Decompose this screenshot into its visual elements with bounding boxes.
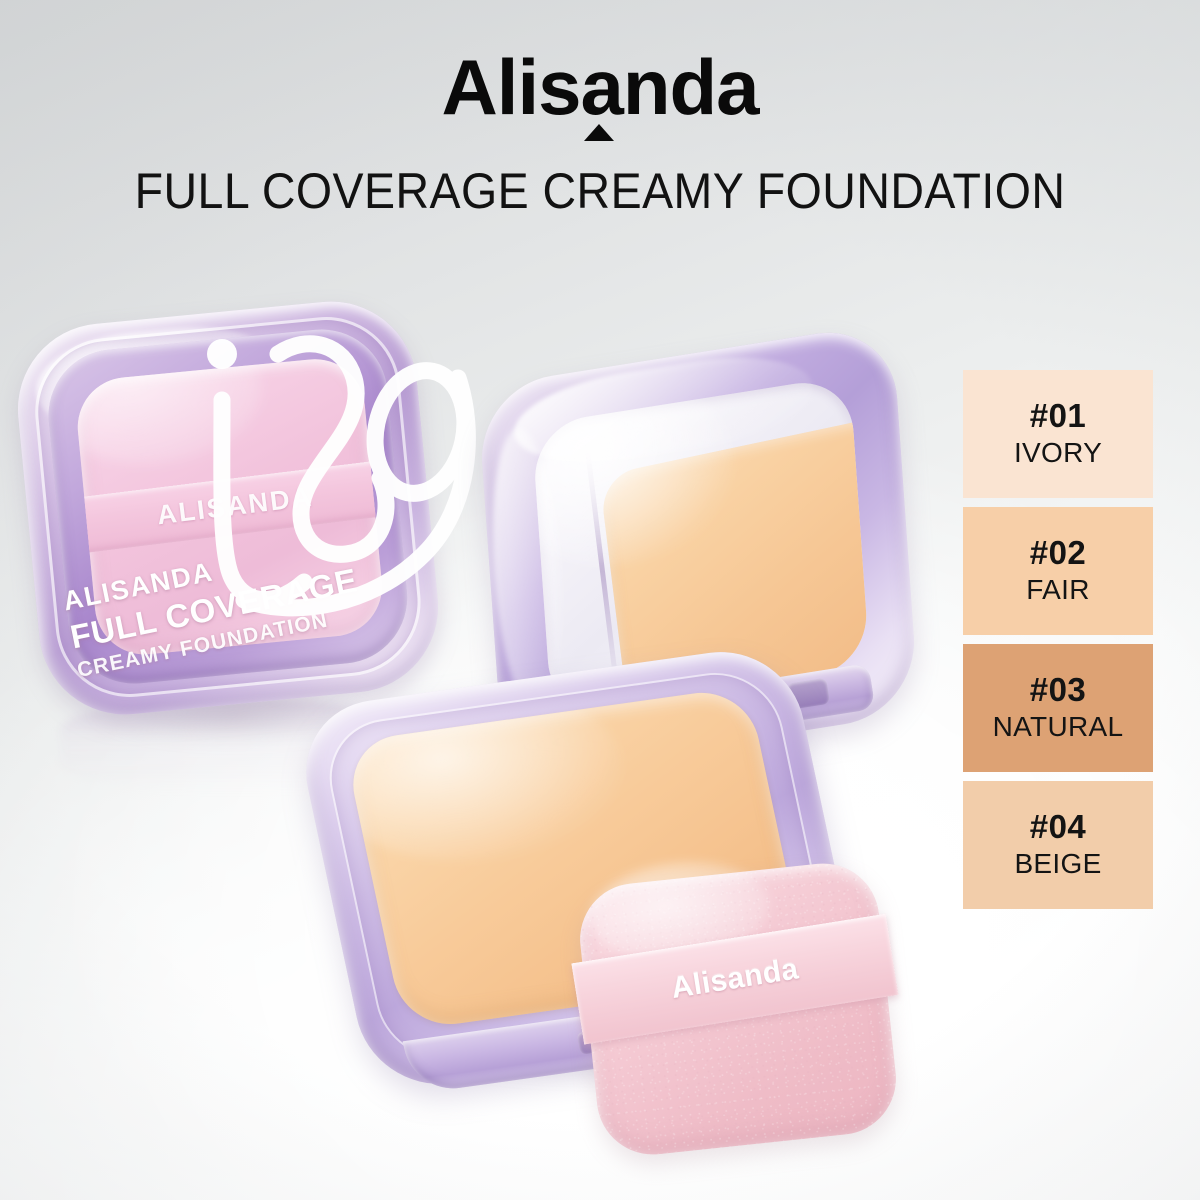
shade-name-02: FAIR — [1026, 574, 1089, 606]
shade-swatch-02[interactable]: #02 FAIR — [963, 507, 1153, 635]
shade-swatch-list: #01 IVORY #02 FAIR #03 NATURAL #04 BEIGE — [963, 370, 1153, 908]
shade-code-01: #01 — [1030, 399, 1087, 434]
brand-triangle-mark — [584, 124, 614, 141]
shade-name-04: BEIGE — [1014, 848, 1101, 880]
product-subtitle: FULL COVERAGE CREAMY FOUNDATION — [42, 162, 1158, 220]
shade-code-04: #04 — [1030, 810, 1087, 845]
shade-swatch-03[interactable]: #03 NATURAL — [963, 644, 1153, 772]
header: Alisanda FULL COVERAGE CREAMY FOUNDATION — [0, 0, 1200, 220]
shade-code-02: #02 — [1030, 536, 1087, 571]
powder-puff: Alisanda — [575, 858, 902, 1160]
shade-name-03: NATURAL — [993, 711, 1124, 743]
brand-title-text: Alisanda — [441, 43, 758, 131]
shade-name-01: IVORY — [1014, 437, 1102, 469]
shade-swatch-04[interactable]: #04 BEIGE — [963, 781, 1153, 909]
shade-swatch-01[interactable]: #01 IVORY — [963, 370, 1153, 498]
brand-title: Alisanda — [441, 48, 758, 126]
open-compact-product: Alisanda — [300, 355, 940, 1145]
shade-code-03: #03 — [1030, 673, 1087, 708]
